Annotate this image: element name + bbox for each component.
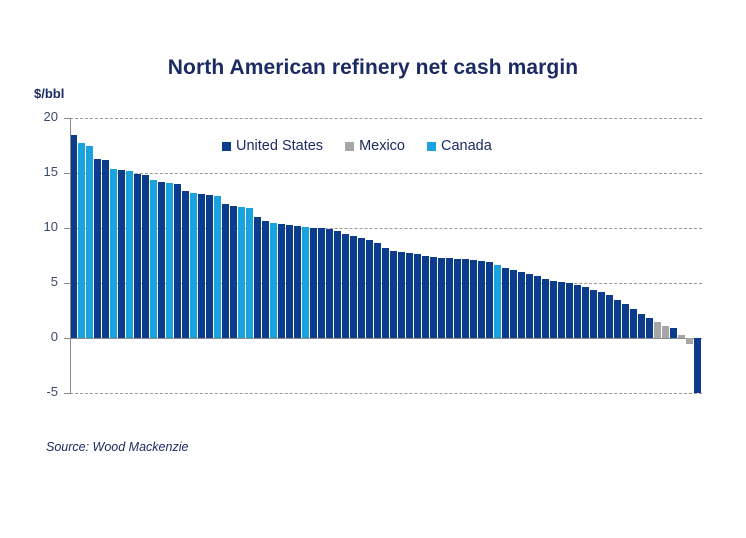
tick-mark--5 [64,393,71,394]
bar [246,208,253,338]
bar [214,196,221,338]
chart-title: North American refinery net cash margin [0,56,746,80]
plot-area [70,118,702,393]
y-axis-line [70,118,71,393]
bar [422,256,429,339]
tick-mark-0 [64,338,71,339]
bar [286,225,293,338]
bar [318,228,325,338]
bar [342,234,349,339]
tick-mark-5 [64,283,71,284]
legend-entry-canada[interactable]: Canada [427,138,492,154]
bar [502,268,509,338]
bar [558,282,565,338]
bar [398,252,405,338]
bar [350,236,357,338]
bar [310,228,317,338]
bar [86,146,93,339]
legend-label: Mexico [359,138,405,154]
bar [414,254,421,338]
bar [678,335,685,338]
legend-entry-mexico[interactable]: Mexico [345,138,405,154]
bar [582,287,589,338]
bar [598,292,605,338]
bar [510,270,517,338]
tick-mark-15 [64,173,71,174]
bar [206,195,213,338]
bar [486,262,493,338]
bar [686,338,693,344]
chart-container: North American refinery net cash margin … [0,0,746,538]
legend-swatch-icon [345,142,354,151]
y-tick-label: 15 [18,164,58,179]
bars-layer [70,118,702,393]
y-tick-label: 5 [18,274,58,289]
bar [182,191,189,338]
bar [526,274,533,338]
bar [262,221,269,338]
bar [126,171,133,338]
bar [646,318,653,338]
bar [670,328,677,338]
bar [190,193,197,338]
bar [542,279,549,338]
y-tick-label: 10 [18,219,58,234]
legend-swatch-icon [222,142,231,151]
bar [358,238,365,338]
bar [230,206,237,338]
bar [470,260,477,338]
bar [630,309,637,338]
bar [174,184,181,338]
bar [662,326,669,338]
legend-label: Canada [441,138,492,154]
bar [142,175,149,338]
bar [606,295,613,338]
gridline--5 [70,393,702,394]
bar [518,272,525,338]
bar [590,290,597,338]
bar [638,314,645,338]
bar [454,259,461,338]
bar [622,304,629,338]
bar [134,174,141,338]
bar [366,240,373,338]
bar [566,283,573,338]
bar [446,258,453,338]
bar [278,224,285,338]
bar [166,183,173,338]
chart-legend: United StatesMexicoCanada [222,138,492,154]
bar [238,207,245,338]
bar [654,322,661,339]
legend-label: United States [236,138,323,154]
bar [222,204,229,338]
bar [462,259,469,338]
bar [102,160,109,338]
y-tick-label: 20 [18,109,58,124]
tick-mark-10 [64,228,71,229]
y-tick-label: -5 [18,384,58,399]
bar [694,338,701,393]
bar [374,243,381,338]
bar [302,227,309,338]
bar [478,261,485,338]
bar [118,170,125,338]
bar [78,143,85,338]
bar [270,223,277,339]
y-tick-label: 0 [18,329,58,344]
legend-entry-united-states[interactable]: United States [222,138,323,154]
bar [550,281,557,338]
bar [326,229,333,338]
bar [150,180,157,338]
bar [70,135,77,339]
bar [614,300,621,339]
legend-swatch-icon [427,142,436,151]
bar [406,253,413,338]
bar [390,251,397,338]
y-axis-unit-label: $/bbl [34,86,64,101]
bar [382,248,389,338]
bar [294,226,301,338]
source-note: Source: Wood Mackenzie [46,440,188,454]
bar [534,276,541,338]
tick-mark-20 [64,118,71,119]
bar [94,159,101,338]
bar [574,285,581,338]
bar [198,194,205,338]
bar [110,169,117,338]
bar [334,231,341,338]
bar [438,258,445,338]
bar [430,257,437,338]
bar [254,217,261,338]
bar [494,265,501,338]
bar [158,182,165,338]
